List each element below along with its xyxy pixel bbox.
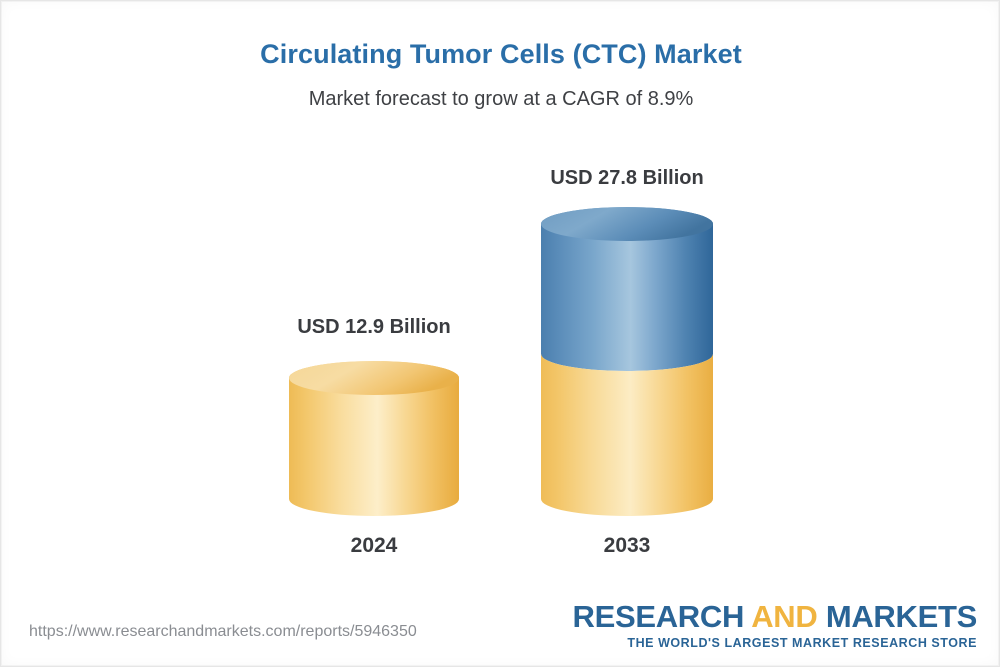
bar-year-label-2024: 2024 [274, 534, 474, 558]
page-subtitle: Market forecast to grow at a CAGR of 8.9… [1, 88, 1000, 111]
infographic-canvas: Circulating Tumor Cells (CTC) Market Mar… [0, 0, 1000, 667]
bar-value-label-2024: USD 12.9 Billion [224, 316, 524, 339]
research-and-markets-logo[interactable]: RESEARCH AND MARKETS THE WORLD'S LARGEST… [572, 601, 977, 650]
logo-tagline: THE WORLD'S LARGEST MARKET RESEARCH STOR… [572, 637, 977, 650]
logo-word-markets: MARKETS [826, 599, 977, 634]
logo-word-and: AND [744, 599, 826, 634]
logo-word-research: RESEARCH [572, 599, 744, 634]
page-title: Circulating Tumor Cells (CTC) Market [1, 39, 1000, 70]
bar-cylinder-2024 [289, 361, 459, 533]
bar-value-label-2033: USD 27.8 Billion [477, 167, 777, 190]
logo-wordmark: RESEARCH AND MARKETS [572, 601, 977, 632]
bar-cylinder-2033 [541, 207, 713, 533]
source-url[interactable]: https://www.researchandmarkets.com/repor… [29, 623, 417, 641]
bar-year-label-2033: 2033 [527, 534, 727, 558]
